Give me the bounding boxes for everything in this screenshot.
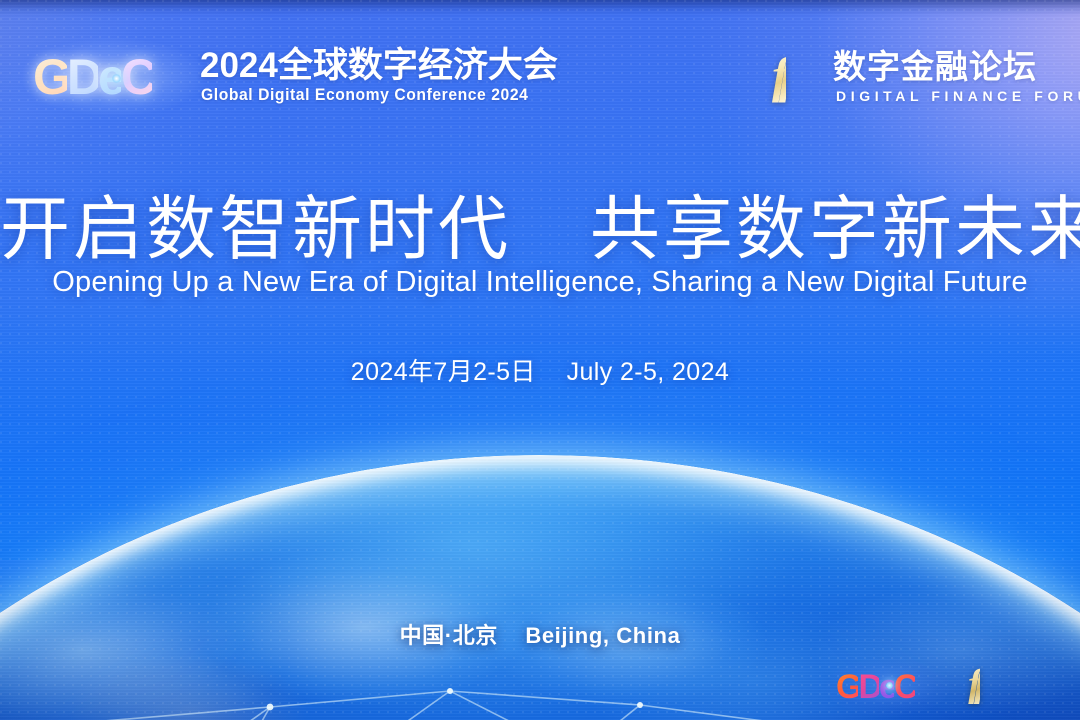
event-date-en: July 2-5, 2024 [567, 358, 730, 386]
main-headline: 开启数智新时代 共享数字新未来 [0, 194, 1080, 264]
gdec-logo-mark-footer: G D e C [836, 666, 940, 708]
gdec-letter-d: D [67, 52, 98, 102]
conference-backdrop: G D e C 2024全球数字经济大会 Global Digital Econ… [0, 0, 1080, 720]
gdec-letter-c: C [121, 52, 152, 102]
forum-title-zh: 数字金融论坛 [833, 50, 1037, 83]
headline-part-1: 开启数智新时代 [0, 190, 511, 268]
gdec-footer-spark-icon [886, 682, 893, 689]
event-location-zh: 中国·北京 [400, 623, 498, 648]
gdec-logo-spark-icon [112, 74, 121, 83]
conference-title-zh: 2024全球数字经济大会 [200, 48, 558, 83]
gdec-footer-letter-c: C [894, 670, 915, 704]
ff-monogram-icon-footer: ff [968, 664, 980, 704]
gdec-footer-letter-g: G [836, 670, 858, 704]
main-subheadline: Opening Up a New Era of Digital Intellig… [0, 266, 1080, 299]
event-date-zh: 2024年7月2-5日 [351, 358, 536, 386]
headline-part-2: 共享数字新未来 [590, 190, 1080, 268]
event-date: 2024年7月2-5日 July 2-5, 2024 [0, 352, 1080, 388]
gdec-logo-mark: G D e C [33, 48, 195, 106]
gdec-footer-letter-d: D [858, 670, 879, 704]
gdec-letter-g: G [33, 52, 67, 102]
forum-title-en: DIGITAL FINANCE FORUM [836, 88, 1080, 104]
event-location: 中国·北京 Beijing, China [0, 618, 1080, 650]
ff-logo-mark: ff [772, 50, 828, 108]
ff-monogram-icon: ff [772, 47, 786, 103]
conference-title-en: Global Digital Economy Conference 2024 [201, 86, 528, 105]
event-location-en: Beijing, China [525, 623, 680, 648]
